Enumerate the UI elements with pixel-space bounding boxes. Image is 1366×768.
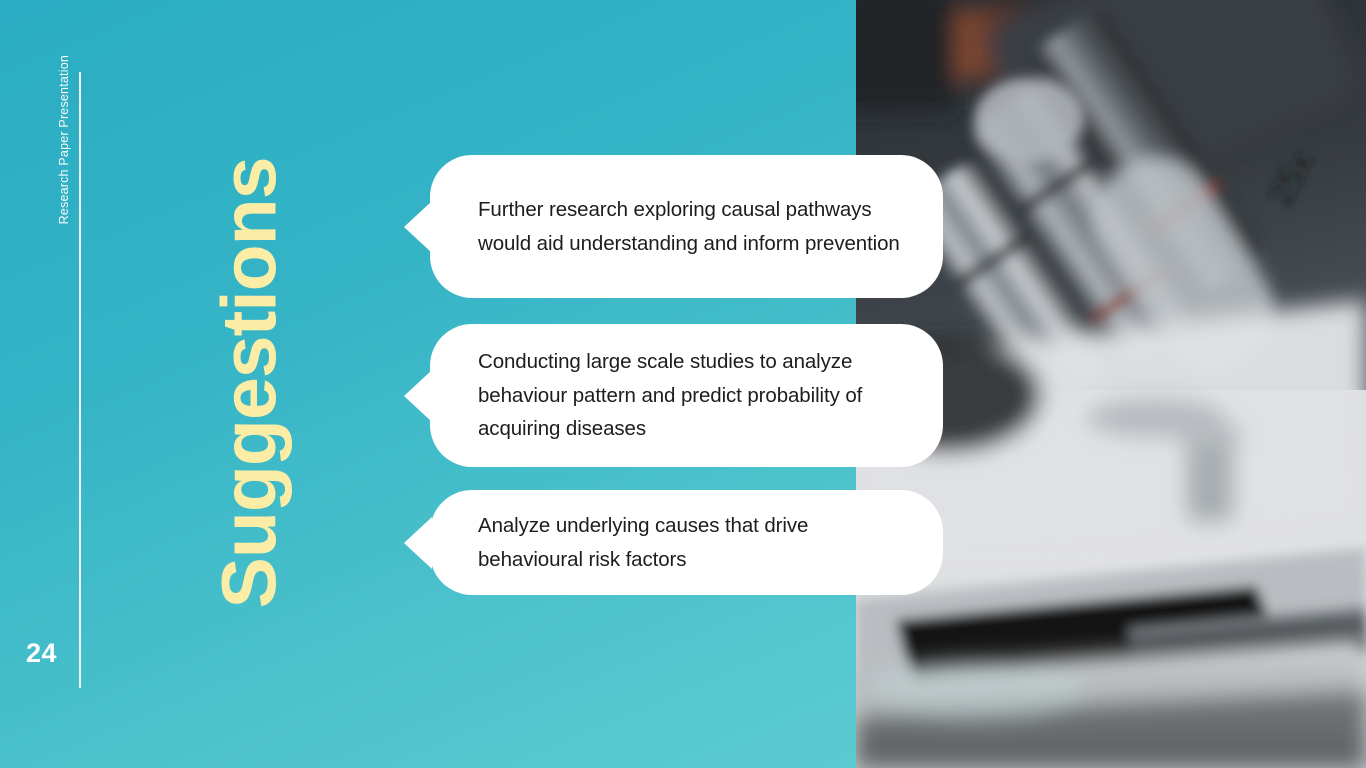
deck-kicker-label: Research Paper Presentation [57,55,71,295]
page-number: 24 [26,638,57,669]
bubble-tail-icon [404,370,432,422]
presentation-slide: Research Paper Presentation 24 Suggestio… [0,0,1366,768]
bubble-tail-icon [404,201,432,253]
callout-bubble-2: Conducting large scale studies to analyz… [430,324,943,467]
callout-bubble-1: Further research exploring causal pathwa… [430,155,943,298]
vertical-divider-line [79,72,81,688]
callout-bubble-3: Analyze underlying causes that drive beh… [430,490,943,595]
callout-bubble-2-text: Conducting large scale studies to analyz… [430,345,943,445]
callout-bubble-3-text: Analyze underlying causes that drive beh… [430,509,943,576]
callout-bubble-1-text: Further research exploring causal pathwa… [430,193,943,260]
bubble-tail-icon [404,517,432,569]
